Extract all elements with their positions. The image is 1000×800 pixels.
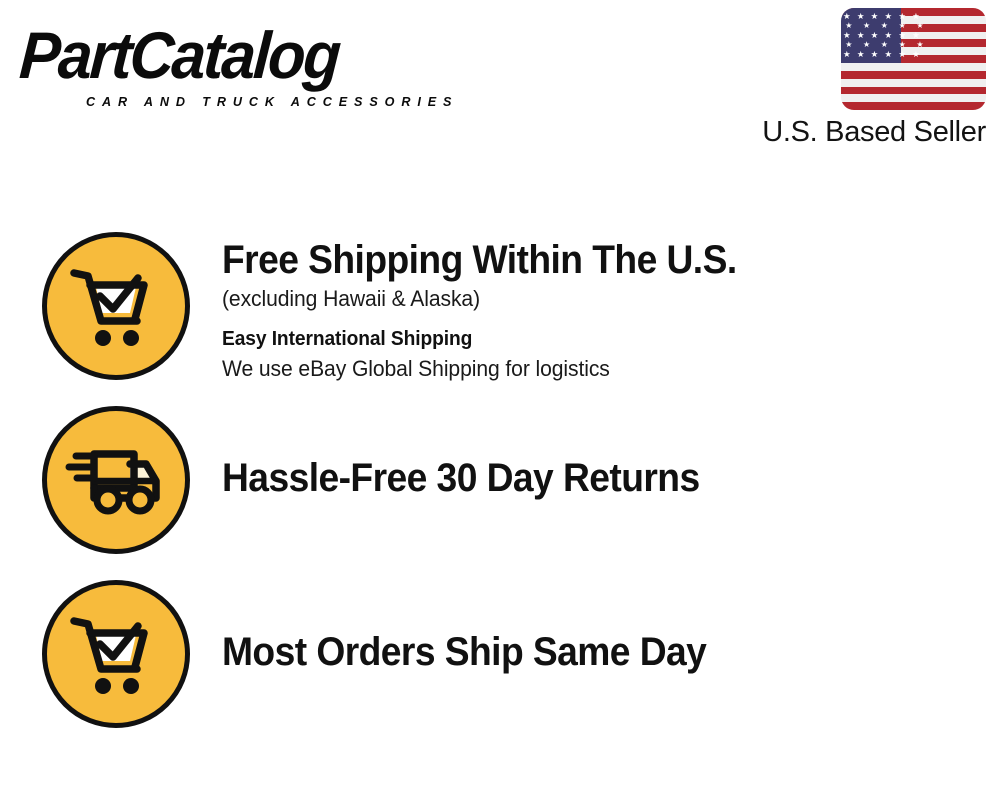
feature-title: Free Shipping Within The U.S.: [222, 238, 929, 282]
flag-star-row: ★ ★ ★ ★ ★: [841, 22, 901, 30]
feature-text-block: Free Shipping Within The U.S. (excluding…: [222, 238, 982, 384]
shopping-cart-check-icon: [42, 580, 190, 728]
feature-row: Free Shipping Within The U.S. (excluding…: [0, 232, 1000, 406]
shopping-cart-check-icon: [42, 232, 190, 380]
feature-subtitle: (excluding Hawaii & Alaska): [222, 284, 952, 314]
feature-icon: [42, 580, 190, 728]
flag-star-row: ★ ★ ★ ★ ★ ★: [841, 50, 901, 58]
us-based-seller-badge: ★ ★ ★ ★ ★ ★ ★ ★ ★ ★ ★ ★ ★ ★ ★ ★ ★ ★ ★ ★ …: [716, 8, 986, 148]
us-based-seller-label: U.S. Based Seller: [716, 116, 986, 148]
feature-subtitle-secondary: We use eBay Global Shipping for logistic…: [222, 354, 952, 384]
flag-star-row: ★ ★ ★ ★ ★ ★: [841, 31, 901, 39]
feature-icon: [42, 232, 190, 380]
feature-subtitle-strong: Easy International Shipping: [222, 324, 952, 354]
feature-list: Free Shipping Within The U.S. (excluding…: [0, 232, 1000, 754]
flag-star-row: ★ ★ ★ ★ ★ ★: [841, 12, 901, 20]
page-header: PartCatalog CAR AND TRUCK ACCESSORIES ★ …: [0, 0, 1000, 170]
feature-text-block: Most Orders Ship Same Day: [222, 630, 982, 674]
us-flag-icon: ★ ★ ★ ★ ★ ★ ★ ★ ★ ★ ★ ★ ★ ★ ★ ★ ★ ★ ★ ★ …: [841, 8, 986, 110]
delivery-truck-icon: [42, 406, 190, 554]
feature-title: Hassle-Free 30 Day Returns: [222, 456, 929, 500]
brand-wordmark: PartCatalog: [18, 22, 459, 88]
feature-title: Most Orders Ship Same Day: [222, 630, 929, 674]
flag-star-row: ★ ★ ★ ★ ★: [841, 41, 901, 49]
spacer: [222, 314, 982, 324]
feature-row: Hassle-Free 30 Day Returns: [0, 406, 1000, 580]
feature-row: Most Orders Ship Same Day: [0, 580, 1000, 754]
brand-tagline: CAR AND TRUCK ACCESSORIES: [86, 94, 458, 109]
brand-logo[interactable]: PartCatalog CAR AND TRUCK ACCESSORIES: [22, 22, 492, 114]
feature-text-block: Hassle-Free 30 Day Returns: [222, 456, 982, 500]
feature-icon: [42, 406, 190, 554]
